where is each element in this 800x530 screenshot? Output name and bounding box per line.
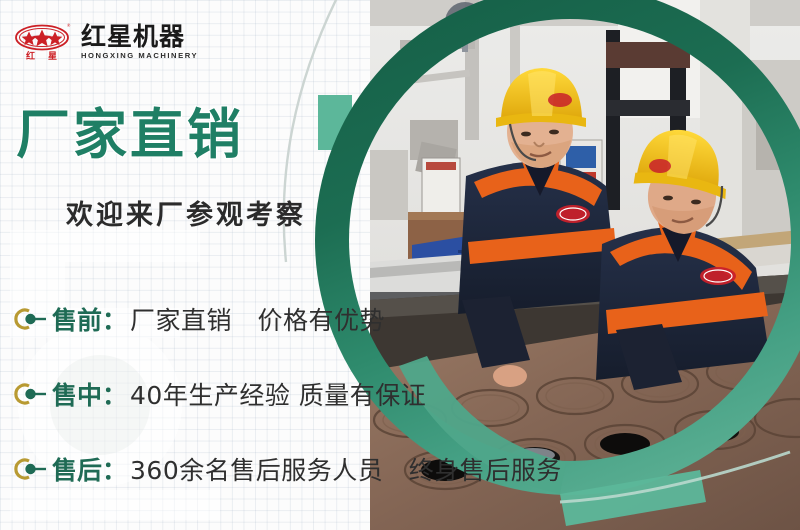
logo-name-en: HONGXING MACHINERY [81,52,198,60]
arc-dot-bullet-icon [14,457,48,481]
svg-text:®: ® [67,23,71,28]
page-subtitle: 欢迎来厂参观考察 [66,202,306,229]
logo-name-cn: 红星机器 [81,24,198,49]
arc-dot-bullet-icon [14,382,48,406]
bullet-label: 售前： [52,301,127,337]
arc-dot-bullet-icon [14,307,48,331]
bullet-label: 售中： [52,376,127,412]
brand-logo: ® 红 星 红星机器 HONGXING MACHINERY [14,22,198,62]
logo-oval-char-right: 星 [48,51,57,62]
promo-banner: ® 红 星 红星机器 HONGXING MACHINERY 厂家直销 欢迎来厂参… [0,0,800,530]
list-item: 售中： 40年生产经验 质量有保证 [14,371,562,417]
logo-oval-char-left: 红 [26,50,35,62]
list-item: 售前： 厂家直销 价格有优势 [14,296,562,342]
bullet-text: 厂家直销 价格有优势 [130,301,385,337]
red-oval-three-stars-logo-icon: ® 红 星 [14,22,72,62]
bullet-label: 售后： [52,451,127,487]
bullet-text: 40年生产经验 质量有保证 [130,376,426,412]
page-title: 厂家直销 [16,108,244,162]
bullet-text: 360余名售后服务人员 终身售后服务 [130,451,562,487]
list-item: 售后： 360余名售后服务人员 终身售后服务 [14,446,562,492]
service-bullet-list: 售前： 厂家直销 价格有优势 售中： 40年生产经验 质量有保证 [14,296,562,492]
